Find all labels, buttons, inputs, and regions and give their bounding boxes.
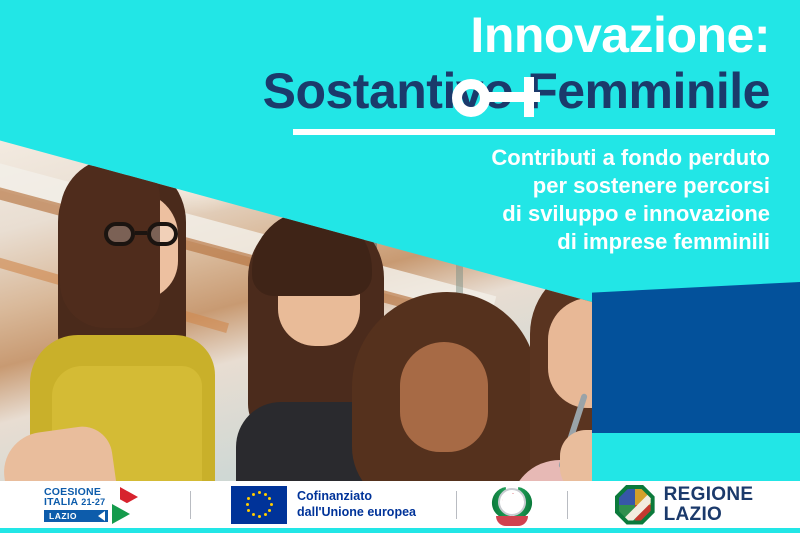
italian-republic-emblem-icon	[491, 484, 533, 526]
footer-logo-bar: COESIONE ITALIA 21-27 LAZIO Cofinanziato	[0, 481, 800, 528]
title-block: Innovazione: SostantivoFemminile	[0, 0, 800, 136]
coesione-years: 21-27	[81, 498, 105, 507]
title-line-1: Innovazione:	[470, 6, 770, 64]
coesione-lazio-badge: LAZIO	[44, 510, 108, 523]
coesione-line-2: ITALIA	[44, 497, 78, 508]
eu-line-2: dall'Unione europea	[297, 505, 416, 521]
subtitle-line: per sostenere percorsi	[350, 172, 770, 200]
logo-coesione-italia: COESIONE ITALIA 21-27 LAZIO	[0, 481, 190, 528]
person-face	[400, 342, 488, 452]
eu-star-icon	[258, 515, 261, 518]
person-hand	[560, 430, 618, 481]
eu-star-icon	[258, 491, 261, 494]
european-union-flag-icon	[231, 486, 287, 524]
eu-star-icon	[252, 513, 255, 516]
eu-star-icon	[270, 503, 273, 506]
eu-star-icon	[247, 509, 250, 512]
title-line-2: SostantivoFemminile	[263, 62, 770, 120]
eu-star-icon	[268, 497, 271, 500]
poster-banner: Innovazione: SostantivoFemminile Contrib…	[0, 0, 800, 533]
regione-lazio-crest-icon	[615, 485, 655, 525]
italy-flag-chevron-icon	[112, 487, 146, 523]
lazio-line-2: LAZIO	[664, 505, 754, 525]
lazio-line-1: REGIONE	[664, 485, 754, 505]
eyeglasses-icon	[104, 222, 178, 246]
eu-star-icon	[246, 503, 249, 506]
subtitle-line: Contributi a fondo perduto	[350, 144, 770, 172]
footer-bottom-strip	[0, 528, 800, 533]
logo-regione-lazio: REGIONE LAZIO	[568, 481, 800, 528]
eu-star-icon	[268, 509, 271, 512]
subtitle: Contributi a fondo perduto per sostenere…	[350, 144, 770, 256]
navy-color-block	[592, 282, 800, 433]
eu-star-icon	[264, 513, 267, 516]
title-divider	[293, 129, 775, 135]
eu-star-icon	[247, 497, 250, 500]
eu-star-icon	[252, 493, 255, 496]
eu-star-icon	[264, 493, 267, 496]
logo-italian-republic	[457, 481, 567, 528]
eu-line-1: Cofinanziato	[297, 489, 416, 505]
subtitle-line: di imprese femminili	[350, 228, 770, 256]
subtitle-line: di sviluppo e innovazione	[350, 200, 770, 228]
logo-european-union: Cofinanziato dall'Unione europea	[191, 481, 456, 528]
